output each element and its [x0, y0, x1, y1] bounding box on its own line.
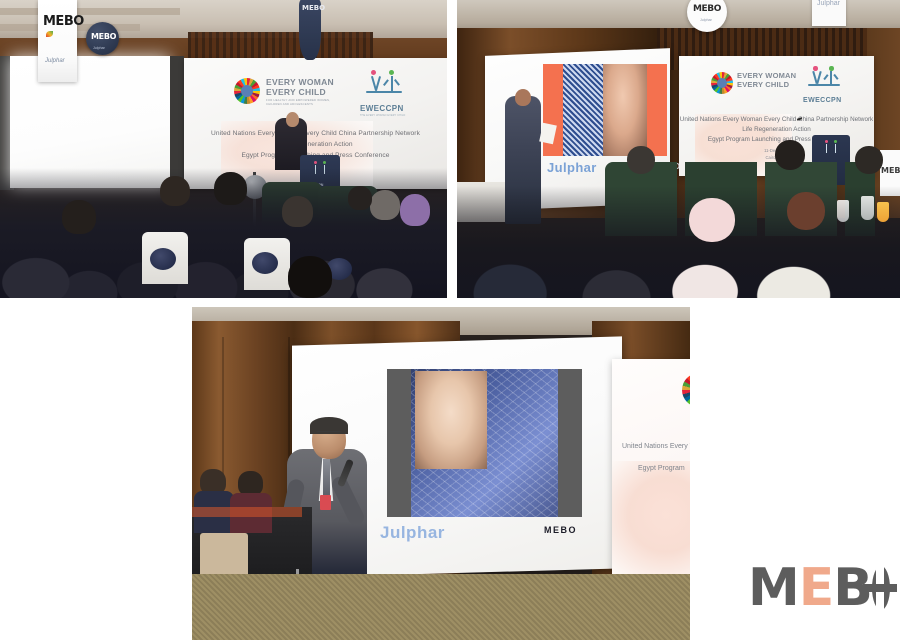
- slide-accent-right: [647, 64, 667, 156]
- hanging-flag: MEBO: [299, 0, 321, 60]
- banner-line-1: United Nations Every Woman: [622, 443, 690, 450]
- baby-photo-graphic: [612, 461, 690, 581]
- slide-julphar-text: Julphar: [380, 523, 445, 543]
- slide-bar-right: [558, 369, 582, 517]
- slide-bar-left: [387, 369, 411, 517]
- ceiling-beam: [0, 8, 180, 15]
- audience-head: [348, 186, 372, 210]
- eweccpn-logo-text: EWECCPN: [360, 104, 404, 113]
- photo-top-left[interactable]: EVERY WOMANEVERY CHILD FOR HEALTHY AND E…: [0, 0, 447, 298]
- every-woman-every-child-logo-text: EVERY WOMANEVERY CHILD: [737, 72, 796, 89]
- eweccpn-logo-text: EWECCPN: [803, 97, 842, 104]
- slide-patient-photo: [603, 64, 647, 156]
- photo-top-right[interactable]: Julphar MEBO EVERY WOMANEVERY CHILD EWEC…: [457, 0, 900, 298]
- every-woman-every-child-tagline: FOR HEALTHY AND EMPOWERED WOMEN, CHILDRE…: [266, 99, 346, 106]
- audience-head-foreground: [288, 256, 332, 298]
- rollup-banner: MEBO Julphar: [38, 0, 77, 82]
- banner-line-2: Life Regeneration Action: [184, 141, 447, 148]
- sdg-wheel-icon: [711, 72, 733, 94]
- projected-slide: [543, 64, 667, 156]
- side-banner: United Nations Every Woman Egypt Program: [612, 359, 690, 581]
- presenter-head: [515, 89, 531, 106]
- carpet-floor: [192, 574, 690, 640]
- round-hanging-sign: MEBO Julphar: [86, 22, 119, 55]
- round-sign-mebo-text: MEBO: [91, 32, 116, 41]
- photo-bottom-center[interactable]: Julphar MEBO United Nations Every Woman …: [192, 307, 690, 640]
- hanging-sign-julphar-text: Julphar: [700, 18, 712, 22]
- slide-patient-photo: [415, 371, 487, 469]
- rollup-mebo-text: MEBO: [43, 14, 84, 29]
- photo-collage-page: EVERY WOMANEVERY CHILD FOR HEALTHY AND E…: [0, 0, 900, 640]
- audience-head-hijab: [400, 194, 430, 226]
- eweccpn-logo-icon: [362, 70, 406, 104]
- mebo-flame-icon: [46, 31, 53, 37]
- sdg-wheel-icon: [234, 78, 260, 104]
- every-woman-every-child-logo-text: EVERY WOMANEVERY CHILD: [266, 78, 334, 98]
- speaker-tie: [323, 459, 330, 495]
- speaker-head: [286, 112, 299, 127]
- chair-bow: [252, 252, 278, 274]
- mebo-letter-m: M: [748, 562, 799, 614]
- side-banner-mebo-text: MEBO: [881, 166, 900, 175]
- hanging-sign-mebo-text: MEBO: [693, 4, 721, 14]
- audience-head: [62, 200, 96, 234]
- speaker-glasses: [316, 431, 342, 436]
- drinking-glass: [861, 196, 874, 220]
- drinking-glass: [837, 200, 849, 222]
- hanging-flag-mebo-text: MEBO: [302, 4, 325, 12]
- side-banner-top: Julphar: [812, 0, 846, 26]
- chair-bow: [150, 248, 176, 270]
- eweccpn-logo-icon: [805, 66, 843, 96]
- mebo-letter-e: E: [799, 562, 834, 614]
- audience-head: [787, 192, 825, 230]
- banner-line-1: United Nations Every Woman Every Child C…: [679, 116, 874, 123]
- slide-julphar-text: Julphar: [547, 160, 597, 175]
- audience-head-hijab: [689, 198, 735, 242]
- banner-line-1: United Nations Every Woman Every Child C…: [184, 130, 447, 137]
- table-accent: [192, 507, 302, 517]
- mebo-watermark-logo: MEB: [748, 562, 888, 614]
- audience-head: [282, 196, 313, 227]
- projected-slide: [387, 369, 582, 517]
- audience-head: [214, 172, 247, 205]
- banner-line-2: Life Regeneration Action: [679, 126, 874, 133]
- eweccpn-sub: THE EVERY WOMAN EVERY CHILD: [360, 114, 405, 117]
- audience-head: [775, 140, 805, 170]
- slide-pattern-graphic: [563, 64, 603, 156]
- audience-head: [627, 146, 655, 174]
- audience-head: [370, 190, 400, 220]
- rollup-julphar-text: Julphar: [45, 58, 65, 64]
- mebo-letter-o-icon: [872, 566, 888, 610]
- audience-head: [855, 146, 883, 174]
- speaker-name-badge: [320, 495, 331, 510]
- juice-glass: [877, 202, 889, 222]
- sdg-wheel-icon: [682, 373, 690, 407]
- audience-head: [160, 176, 190, 206]
- audience: [457, 186, 900, 298]
- slide-mebo-text: MEBO: [544, 525, 577, 535]
- banner-line-2: Egypt Program: [638, 465, 685, 472]
- round-sign-julphar-text: Julphar: [93, 46, 105, 50]
